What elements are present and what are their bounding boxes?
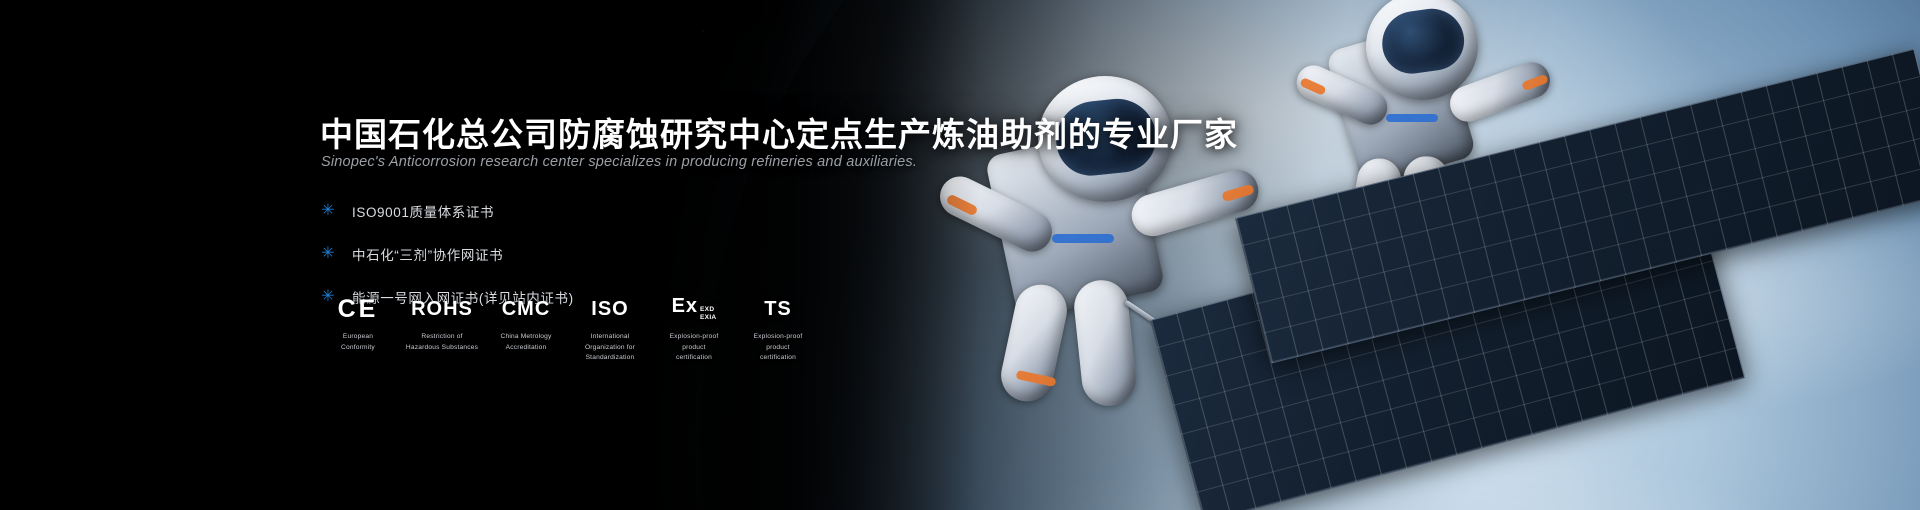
certification-badge-ex[interactable]: ExEXDEXIA Explosion-proofproductcertific… — [652, 296, 736, 364]
banner-content: 中国石化总公司防腐蚀研究中心定点生产炼油助剂的专业厂家 Sinopec's An… — [0, 0, 1920, 510]
rohs-mark-icon: ROHS — [400, 296, 484, 322]
certification-caption: China MetrologyAccreditation — [484, 332, 568, 353]
certification-badge-ce[interactable]: CE EuropeanConformity — [316, 296, 400, 353]
banner-subheadline: Sinopec's Anticorrosion research center … — [321, 154, 917, 170]
certification-caption: Restriction ofHazardous Substances — [400, 332, 484, 353]
certification-caption: Explosion-proofproductcertification — [736, 332, 820, 364]
certification-badge-ts[interactable]: TS Explosion-proofproductcertification — [736, 296, 820, 364]
banner-headline: 中国石化总公司防腐蚀研究中心定点生产炼油助剂的专业厂家 — [320, 108, 1238, 156]
certification-badge-row: CE EuropeanConformity ROHS Restriction o… — [316, 296, 820, 364]
ex-sub-label: EXDEXIA — [700, 306, 716, 321]
certification-caption: EuropeanConformity — [316, 332, 400, 353]
ex-main-label: Ex — [672, 296, 698, 316]
star-bullet-icon: ✳ — [320, 246, 336, 262]
ts-mark-icon: TS — [736, 296, 820, 322]
cmc-mark-icon: CMC — [484, 296, 568, 322]
certification-caption: InternationalOrganization forStandardiza… — [568, 332, 652, 364]
certification-badge-cmc[interactable]: CMC China MetrologyAccreditation — [484, 296, 568, 353]
certification-badge-rohs[interactable]: ROHS Restriction ofHazardous Substances — [400, 296, 484, 353]
star-bullet-icon: ✳ — [320, 203, 336, 219]
ex-mark-icon: ExEXDEXIA — [652, 296, 736, 322]
certification-badge-iso[interactable]: ISO InternationalOrganization forStandar… — [568, 296, 652, 364]
list-item[interactable]: ✳ ISO9001质量体系证书 — [320, 198, 574, 223]
certification-caption: Explosion-proofproductcertification — [652, 332, 736, 364]
iso-mark-icon: ISO — [568, 296, 652, 322]
bullet-label: ISO9001质量体系证书 — [352, 201, 494, 221]
bullet-label: 中石化“三剂”协作网证书 — [352, 244, 503, 264]
list-item[interactable]: ✳ 中石化“三剂”协作网证书 — [320, 241, 574, 266]
ce-mark-icon: CE — [316, 296, 400, 322]
